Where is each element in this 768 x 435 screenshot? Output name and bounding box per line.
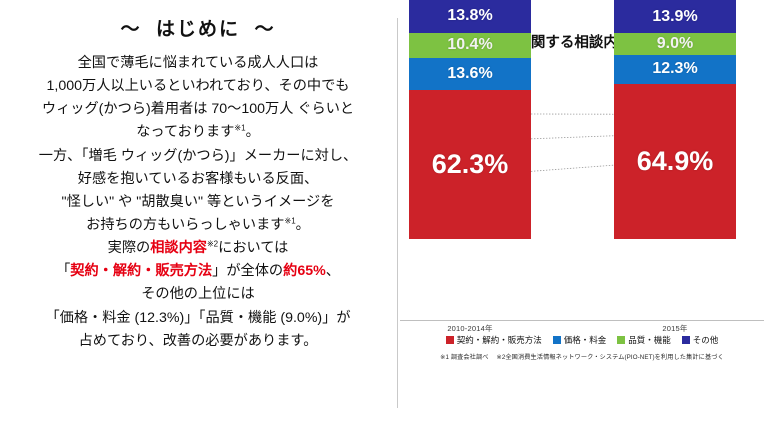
bar-label-quality: 9.0% <box>657 35 693 53</box>
slide-root: ～ はじめに ～ 全国で薄毛に悩まれている成人人口は1,000万人以上いるといわ… <box>0 0 768 435</box>
intro-line: 一方、「増毛 ウィッグ(かつら)」メーカーに対し、 <box>8 145 388 168</box>
legend-swatch-icon <box>682 336 690 344</box>
bar-segment-contract: 64.9% <box>614 84 736 239</box>
legend-label: 品質・機能 <box>628 334 671 346</box>
bar-label-contract: 62.3% <box>432 149 509 180</box>
intro-text-run: なっております <box>136 124 234 140</box>
legend-item[interactable]: 品質・機能 <box>617 334 671 346</box>
intro-text-run: 好感を抱いているお客様もいる反面、 <box>78 171 318 187</box>
intro-text-run: "怪しい" や "胡散臭い" 等というイメージを <box>62 194 335 210</box>
intro-line: 好感を抱いているお客様もいる反面、 <box>8 168 388 191</box>
intro-text-run: ※2 <box>207 239 218 248</box>
legend-label: その他 <box>693 334 719 346</box>
legend-swatch-icon <box>553 336 561 344</box>
page-title: ～ はじめに ～ <box>0 14 396 41</box>
intro-text-run: その他の上位には <box>141 286 255 302</box>
bar-segment-quality: 10.4% <box>409 33 531 58</box>
intro-line: 実際の相談内容※2においては <box>8 237 388 260</box>
intro-text-run: 「 <box>56 263 70 279</box>
intro-text-run: ※1 <box>234 124 245 133</box>
intro-text-run: においては <box>218 240 288 256</box>
intro-text-run: 1,000万人以上いるといわれており、その中でも <box>47 78 350 94</box>
chart-footnote: ※1 調査会社調べ <box>440 354 488 361</box>
intro-text-run: 一方、「増毛 ウィッグ(かつら)」メーカーに対し、 <box>39 148 357 164</box>
chart-footnotes: ※1 調査会社調べ※2全国消費生活情報ネットワーク・システム(PIO-NET)を… <box>396 352 768 361</box>
bar-label-other: 13.9% <box>652 8 697 26</box>
legend-label: 契約・解約・販売方法 <box>457 334 542 346</box>
intro-text-run: 。 <box>296 217 310 233</box>
bar-label-quality: 10.4% <box>447 36 492 54</box>
legend-item[interactable]: 価格・料金 <box>553 334 607 346</box>
intro-line: "怪しい" や "胡散臭い" 等というイメージを <box>8 191 388 214</box>
intro-text-run: 相談内容 <box>150 240 207 256</box>
chart-footnote: ※2全国消費生活情報ネットワーク・システム(PIO-NET)を利用した集計に基づ… <box>497 354 724 361</box>
intro-line: お持ちの方もいらっしゃいます※1。 <box>8 214 388 237</box>
intro-line: ウィッグ(かつら)着用者は 70～100万人 ぐらいと <box>8 98 388 121</box>
intro-body-text: 全国で薄毛に悩まれている成人人口は1,000万人以上いるといわれており、その中で… <box>0 52 396 353</box>
bar-label-other: 13.8% <box>447 7 492 25</box>
intro-line: その他の上位には <box>8 283 388 306</box>
intro-text-run: 約65% <box>283 263 326 279</box>
intro-text-run: 「価格・料金 (12.3%)」「品質・機能 (9.0%)」が <box>45 310 350 326</box>
legend-swatch-icon <box>617 336 625 344</box>
intro-text-run: 。 <box>246 124 260 140</box>
intro-text-run: ※1 <box>284 216 295 225</box>
legend-swatch-icon <box>446 336 454 344</box>
intro-line: なっております※1。 <box>8 121 388 144</box>
bar-segment-price: 13.6% <box>409 58 531 91</box>
intro-line: 1,000万人以上いるといわれており、その中でも <box>8 75 388 98</box>
category-axis-line <box>400 320 764 321</box>
chart-legend: 契約・解約・販売方法価格・料金品質・機能その他 <box>396 334 768 346</box>
intro-line: 全国で薄毛に悩まれている成人人口は <box>8 52 388 75</box>
bar-segment-quality: 9.0% <box>614 33 736 55</box>
intro-text-run: 全国で薄毛に悩まれている成人人口は <box>78 55 319 71</box>
bar-segment-price: 12.3% <box>614 55 736 84</box>
intro-text-run: 占めており、改善の必要があります。 <box>79 333 318 349</box>
bar-segment-other: 13.8% <box>409 0 531 33</box>
bar-label-price: 12.3% <box>652 60 697 78</box>
bar-label-contract: 64.9% <box>637 146 714 177</box>
category-label-2015: 2015年 <box>614 323 736 334</box>
intro-text-run: 実際の <box>108 240 151 256</box>
bar-segment-other: 13.9% <box>614 0 736 33</box>
intro-text-run: 、 <box>326 263 340 279</box>
intro-text-run: 」が全体の <box>212 263 283 279</box>
intro-line: 「価格・料金 (12.3%)」「品質・機能 (9.0%)」が <box>8 307 388 330</box>
stacked-bar-2010-2014: 13.8% 10.4% 13.6% 62.3% <box>409 0 531 239</box>
stacked-bar-2015: 13.9% 9.0% 12.3% 64.9% <box>614 0 736 239</box>
intro-text-run: 契約・解約・販売方法 <box>70 263 212 279</box>
chart-panel: "かつら"に関する相談内容の割合推移 13.8% 10.4% 13.6% 62.… <box>396 0 768 435</box>
legend-item[interactable]: その他 <box>682 334 719 346</box>
bar-segment-contract: 62.3% <box>409 90 531 239</box>
intro-text-run: ウィッグ(かつら)着用者は 70～100万人 ぐらいと <box>42 101 354 117</box>
intro-text-panel: ～ はじめに ～ 全国で薄毛に悩まれている成人人口は1,000万人以上いるといわ… <box>0 0 396 435</box>
intro-line: 占めており、改善の必要があります。 <box>8 330 388 353</box>
legend-label: 価格・料金 <box>564 334 607 346</box>
segment-connector-lines <box>531 81 614 321</box>
bar-label-price: 13.6% <box>447 65 492 83</box>
category-label-2010-2014: 2010-2014年 <box>409 323 531 334</box>
intro-text-run: お持ちの方もいらっしゃいます <box>86 217 284 233</box>
legend-item[interactable]: 契約・解約・販売方法 <box>446 334 542 346</box>
intro-line: 「契約・解約・販売方法」が全体の約65%、 <box>8 260 388 283</box>
